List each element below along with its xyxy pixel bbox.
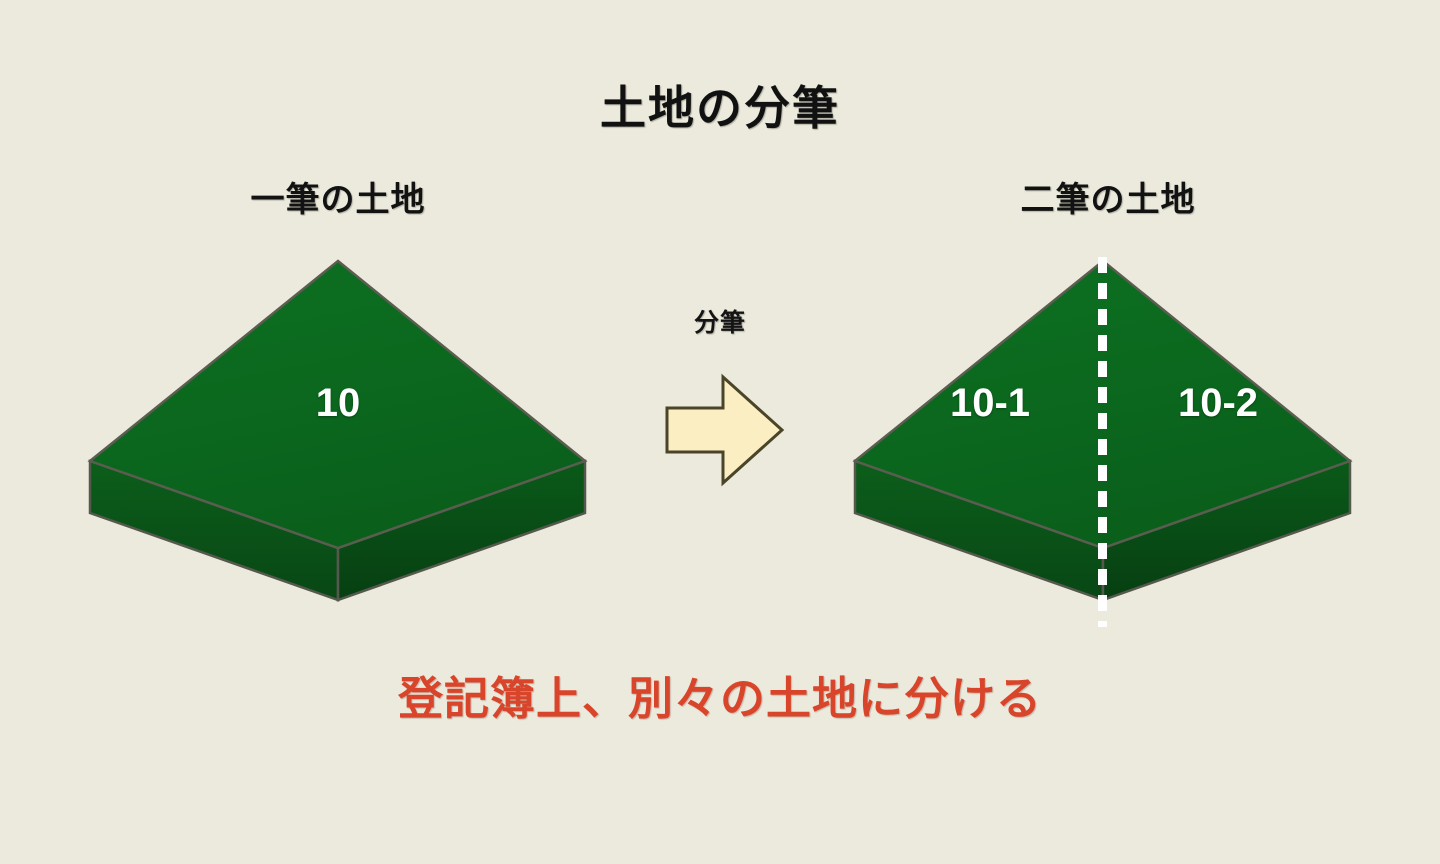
parcel-label-10-2: 10-2 <box>1118 381 1318 426</box>
right-arrow-svg <box>663 372 787 488</box>
slide-canvas: 土地の分筆 一筆の土地 二筆の土地 <box>0 0 1440 864</box>
isometric-block-single-svg <box>80 248 590 613</box>
right-arrow-icon <box>663 372 787 488</box>
before-heading: 一筆の土地 <box>138 172 538 221</box>
process-label: 分筆 <box>640 303 800 339</box>
page-title: 土地の分筆 <box>0 72 1440 138</box>
land-block-before <box>80 248 590 613</box>
arrow-shape <box>667 377 782 483</box>
caption-text: 登記簿上、別々の土地に分ける <box>0 662 1440 727</box>
division-dashed-line <box>1098 257 1107 627</box>
parcel-label-10-1: 10-1 <box>890 381 1090 426</box>
after-heading: 二筆の土地 <box>908 172 1308 221</box>
parcel-label-10: 10 <box>258 381 418 426</box>
